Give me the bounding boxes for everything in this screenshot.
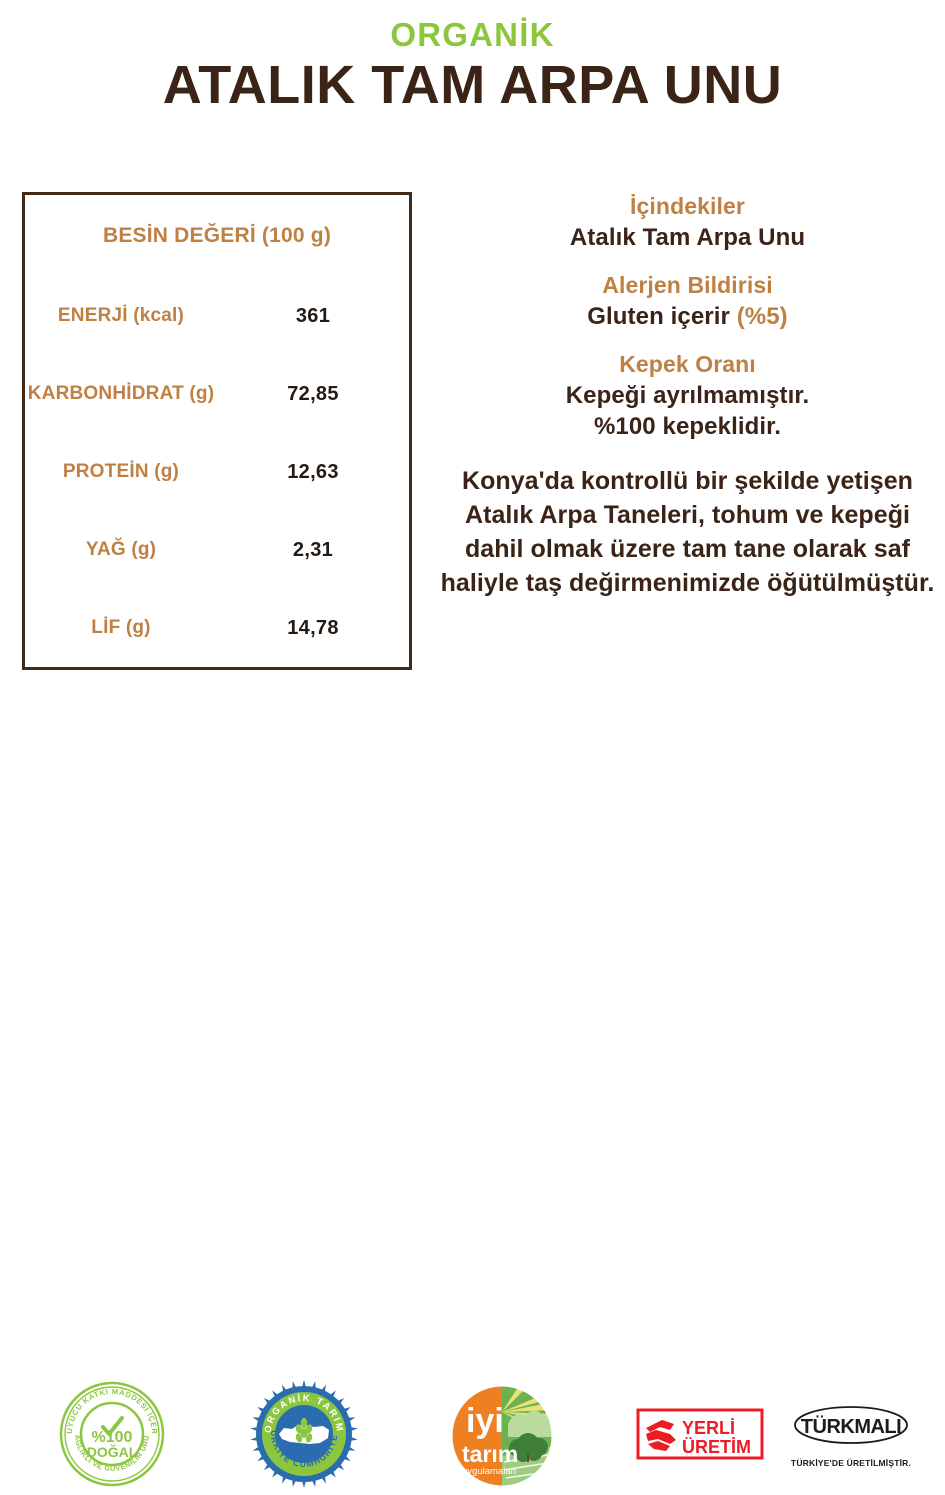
- nutrient-label: YAĞ (g): [25, 511, 217, 589]
- bran-ratio-line-2: %100 kepeklidir.: [430, 411, 945, 442]
- iyi-tarim-line-3: uygulamaları: [462, 1466, 516, 1477]
- iyi-tarim-line-1: iyi: [466, 1402, 504, 1440]
- allergen-block: Alerjen Bildirisi Gluten içerir (%5): [430, 271, 945, 332]
- certification-turk-mali: TÜRKMALI TÜRKİYE'DE ÜRETİLMİŞTİR.: [790, 1404, 912, 1468]
- nutrient-label: KARBONHİDRAT (g): [25, 355, 217, 433]
- svg-text:KORUYUCU KATKI MADDESİ İÇERMEZ: KORUYUCU KATKI MADDESİ İÇERMEZ: [58, 1380, 159, 1435]
- nutrient-label: PROTEİN (g): [25, 433, 217, 511]
- page-title: ATALIK TAM ARPA UNU: [0, 55, 945, 115]
- allergen-body: Gluten içerir (%5): [430, 301, 945, 332]
- allergen-heading: Alerjen Bildirisi: [430, 271, 945, 301]
- certification-logos: KORUYUCU KATKI MADDESİ İÇERMEZ SAĞLIKLI …: [0, 686, 945, 806]
- nutrient-label: LİF (g): [25, 589, 217, 667]
- dogal-seal-icon: KORUYUCU KATKI MADDESİ İÇERMEZ SAĞLIKLI …: [58, 1380, 166, 1488]
- nutrition-table-body: BESİN DEĞERİ (100 g) ENERJİ (kcal) 361 K…: [25, 195, 409, 667]
- table-row: PROTEİN (g) 12,63: [25, 433, 409, 511]
- ingredients-body: Atalık Tam Arpa Unu: [430, 222, 945, 253]
- organik-eyebrow: ORGANİK: [0, 18, 945, 53]
- allergen-percentage: (%5): [737, 303, 788, 330]
- certification-dogal: KORUYUCU KATKI MADDESİ İÇERMEZ SAĞLIKLI …: [58, 1380, 166, 1493]
- dogal-ring-top-text: KORUYUCU KATKI MADDESİ İÇERMEZ: [58, 1380, 159, 1435]
- table-header-row: BESİN DEĞERİ (100 g): [25, 195, 409, 277]
- yerli-uretim-line-2: ÜRETİM: [682, 1437, 751, 1457]
- nutrition-facts-table: BESİN DEĞERİ (100 g) ENERJİ (kcal) 361 K…: [22, 192, 412, 670]
- turk-mali-mark: TÜRKMALI: [801, 1415, 901, 1438]
- certification-organik-tarim: ORGANİK TARIM TÜRKİYE CUMHURİYETİ: [248, 1378, 360, 1495]
- turk-mali-caption: TÜRKİYE'DE ÜRETİLMİŞTİR.: [790, 1458, 912, 1468]
- table-row: KARBONHİDRAT (g) 72,85: [25, 355, 409, 433]
- product-info-column: İçindekiler Atalık Tam Arpa Unu Alerjen …: [430, 192, 945, 600]
- table-row: YAĞ (g) 2,31: [25, 511, 409, 589]
- ingredients-heading: İçindekiler: [430, 192, 945, 222]
- table-row: ENERJİ (kcal) 361: [25, 277, 409, 355]
- turk-mali-logo-icon: TÜRKMALI: [790, 1404, 912, 1448]
- nutrient-value: 14,78: [217, 589, 409, 667]
- iyi-tarim-line-2: tarım: [462, 1441, 518, 1467]
- nutrient-value: 12,63: [217, 433, 409, 511]
- bran-ratio-heading: Kepek Oranı: [430, 350, 945, 380]
- table-row: LİF (g) 14,78: [25, 589, 409, 667]
- nutrient-value: 361: [217, 277, 409, 355]
- allergen-body-main: Gluten içerir: [587, 303, 736, 330]
- nutrient-value: 72,85: [217, 355, 409, 433]
- bran-ratio-line-1: Kepeği ayrılmamıştır.: [430, 380, 945, 411]
- product-header: ORGANİK ATALIK TAM ARPA UNU: [0, 18, 945, 115]
- dogal-center-line-2: DOĞAL: [87, 1443, 138, 1460]
- certification-iyi-tarim: iyi tarım uygulamaları: [450, 1384, 554, 1493]
- bran-ratio-block: Kepek Oranı Kepeği ayrılmamıştır. %100 k…: [430, 350, 945, 442]
- organik-tarim-seal-icon: ORGANİK TARIM TÜRKİYE CUMHURİYETİ: [248, 1378, 360, 1490]
- product-description: Konya'da kontrollü bir şekilde yetişen A…: [430, 464, 945, 600]
- ingredients-block: İçindekiler Atalık Tam Arpa Unu: [430, 192, 945, 253]
- nutrient-value: 2,31: [217, 511, 409, 589]
- iyi-tarim-logo-icon: iyi tarım uygulamaları: [450, 1384, 554, 1488]
- nutrient-label: ENERJİ (kcal): [25, 277, 217, 355]
- certification-yerli-uretim: YERLİ ÜRETİM: [636, 1408, 764, 1469]
- nutrition-table-title: BESİN DEĞERİ (100 g): [25, 195, 409, 277]
- yerli-uretim-line-1: YERLİ: [682, 1418, 735, 1438]
- yerli-uretim-logo-icon: YERLİ ÜRETİM: [636, 1408, 764, 1464]
